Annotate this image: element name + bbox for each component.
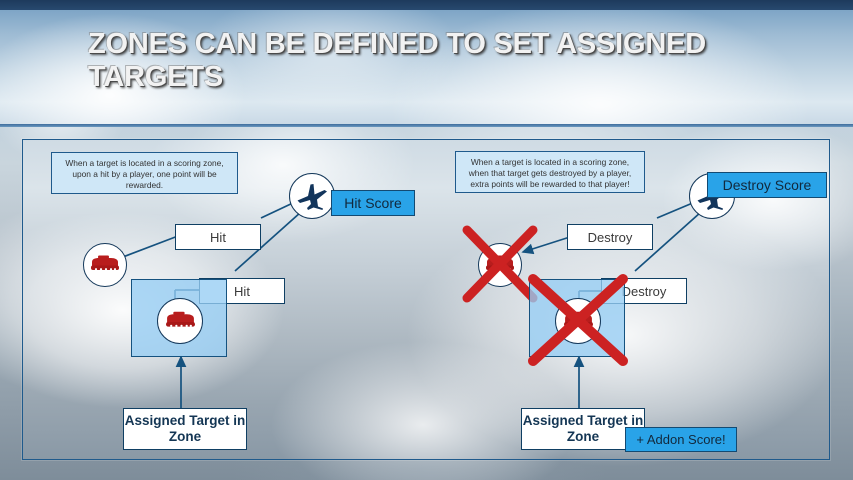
left-jet-marker — [289, 173, 335, 219]
tank-target-icon — [164, 310, 197, 333]
left-target-marker — [83, 243, 127, 287]
page-title: ZONES CAN BE DEFINED TO SET ASSIGNED TAR… — [88, 28, 788, 94]
left-zone-caption: Assigned Target in Zone — [123, 408, 247, 450]
destroy-score-badge: Destroy Score — [707, 172, 827, 198]
top-accent-strip — [0, 0, 853, 10]
hit-score-badge: Hit Score — [331, 190, 415, 216]
left-zone-target-marker — [157, 298, 203, 344]
tank-target-icon — [89, 254, 121, 276]
hit-label-top: Hit — [175, 224, 261, 250]
right-callout: When a target is located in a scoring zo… — [455, 151, 645, 193]
header-divider — [0, 124, 853, 127]
addon-score-badge: + Addon Score! — [625, 427, 737, 452]
diagram-panel: When a target is located in a scoring zo… — [22, 139, 830, 460]
fighter-jet-icon — [295, 181, 329, 211]
slide-root: ZONES CAN BE DEFINED TO SET ASSIGNED TAR… — [0, 0, 853, 480]
left-callout: When a target is located in a scoring zo… — [51, 152, 238, 194]
right-zone-destroyed-x-icon — [526, 272, 630, 368]
destroy-label-top: Destroy — [567, 224, 653, 250]
